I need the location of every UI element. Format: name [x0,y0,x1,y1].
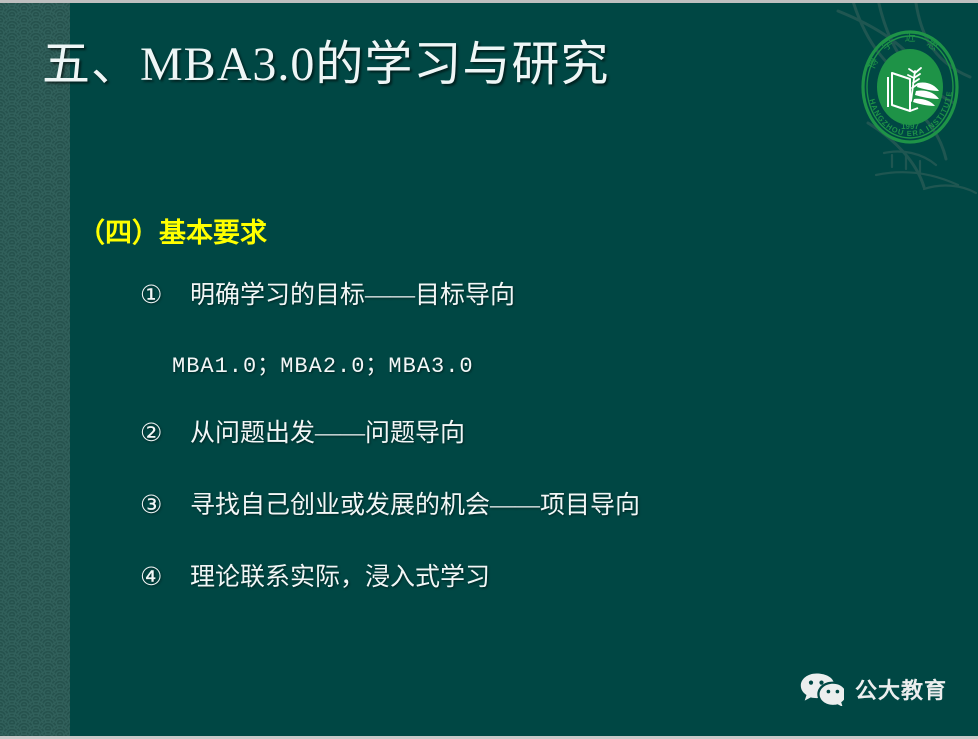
page-title: 五、MBA3.0的学习与研究 [42,37,609,92]
bullet-text-3: 寻找自己创业或发展的机会——项目导向 [190,485,640,521]
wechat-label: 公大教育 [855,673,947,705]
svg-text:1997: 1997 [901,122,919,131]
bullet-marker-1: ① [140,280,190,310]
mba-versions-line: MBA1.0；MBA2.0；MBA3.0 [172,347,840,379]
bullet-text-1: 明确学习的目标——目标导向 [190,275,515,311]
sidebar-wave-pattern [0,3,70,736]
presentation-slide: 五、MBA3.0的学习与研究 博 学 近 思 HANGZHOU ERA INST… [0,0,978,739]
wechat-icon [800,672,844,706]
bullet-marker-3: ③ [140,490,190,520]
bullet-item-2: ② 从问题出发——问题导向 [140,413,840,449]
institute-seal-logo: 博 学 近 思 HANGZHOU ERA INSTITUTE 1997 [855,21,965,153]
bullet-item-4: ④ 理论联系实际，浸入式学习 [140,557,840,593]
wechat-badge: 公大教育 [800,672,947,706]
bullet-marker-2: ② [140,418,190,448]
bullet-list: ① 明确学习的目标——目标导向 MBA1.0；MBA2.0；MBA3.0 ② 从… [140,275,840,629]
bullet-item-3: ③ 寻找自己创业或发展的机会——项目导向 [140,485,840,521]
bullet-marker-4: ④ [140,562,190,592]
bullet-text-2: 从问题出发——问题导向 [190,413,465,449]
bullet-text-4: 理论联系实际，浸入式学习 [190,557,490,593]
bullet-item-1: ① 明确学习的目标——目标导向 [140,275,840,311]
section-heading: （四）基本要求 [78,211,267,250]
